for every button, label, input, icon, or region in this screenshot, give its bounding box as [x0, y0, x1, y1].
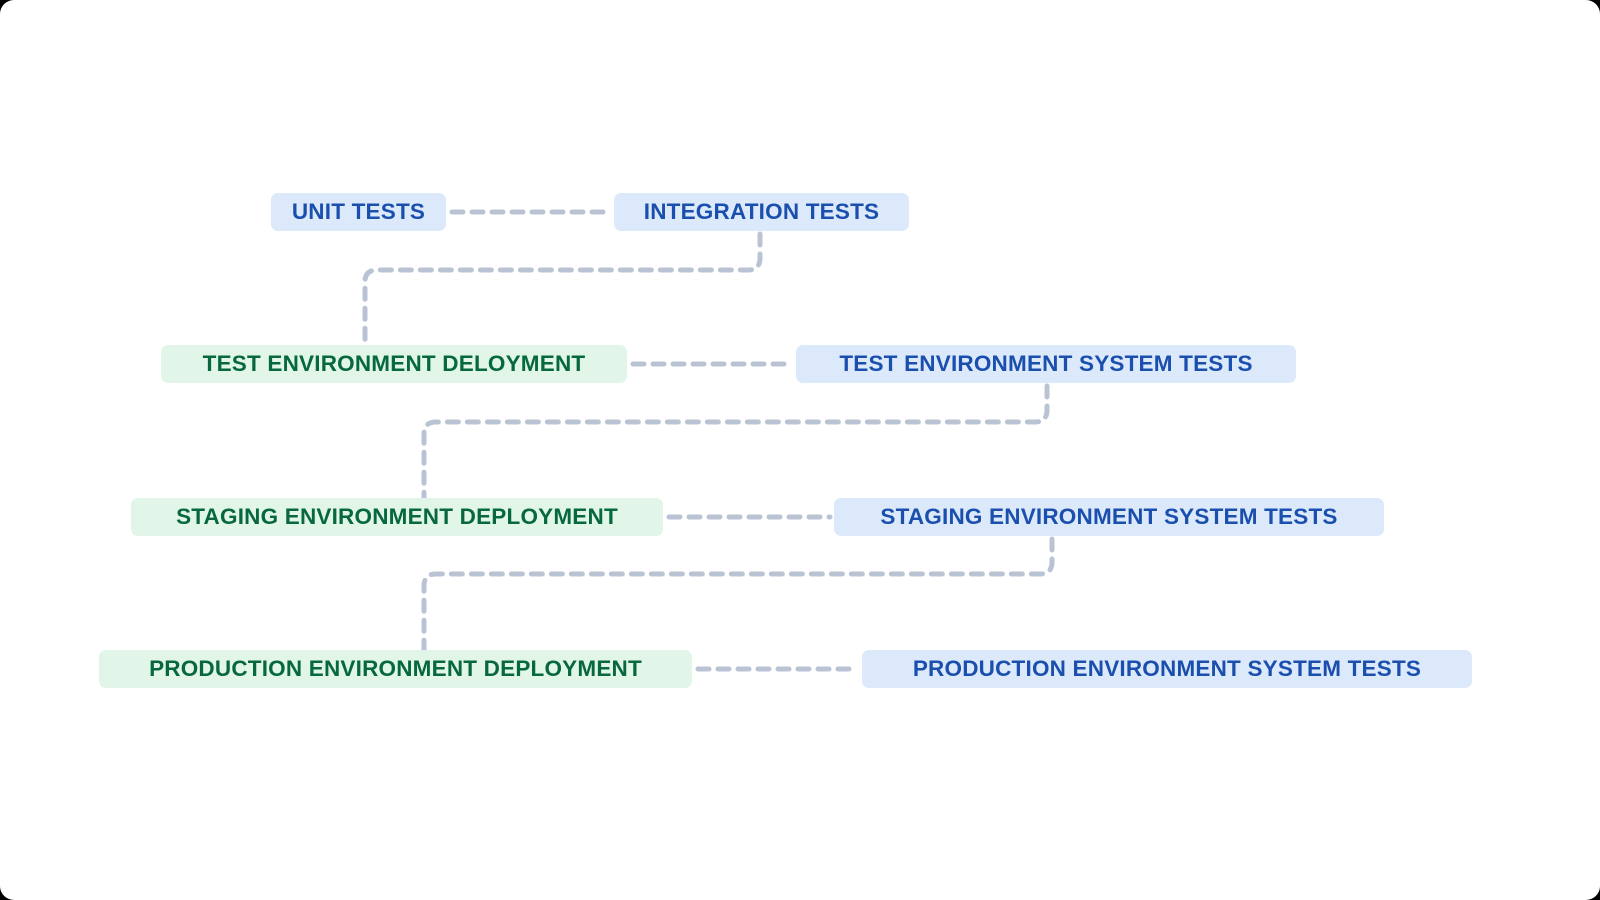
connector-staging-environment-system-tests-to-production-environment-deployment: [424, 539, 1052, 650]
node-production-environment-deployment[interactable]: PRODUCTION ENVIRONMENT DEPLOYMENT: [99, 650, 692, 688]
node-test-environment-system-tests[interactable]: TEST ENVIRONMENT SYSTEM TESTS: [796, 345, 1296, 383]
node-label: INTEGRATION TESTS: [644, 201, 880, 224]
connector-integration-tests-to-test-environment-deloyment: [365, 234, 760, 344]
node-staging-environment-system-tests[interactable]: STAGING ENVIRONMENT SYSTEM TESTS: [834, 498, 1384, 536]
node-staging-environment-deployment[interactable]: STAGING ENVIRONMENT DEPLOYMENT: [131, 498, 663, 536]
node-label: STAGING ENVIRONMENT SYSTEM TESTS: [880, 506, 1337, 529]
node-label: TEST ENVIRONMENT DELOYMENT: [203, 353, 586, 376]
node-label: TEST ENVIRONMENT SYSTEM TESTS: [839, 353, 1252, 376]
node-label: PRODUCTION ENVIRONMENT SYSTEM TESTS: [913, 658, 1421, 681]
node-label: STAGING ENVIRONMENT DEPLOYMENT: [176, 506, 618, 529]
connector-layer: [0, 0, 1600, 900]
node-label: PRODUCTION ENVIRONMENT DEPLOYMENT: [149, 658, 642, 681]
node-test-environment-deloyment[interactable]: TEST ENVIRONMENT DELOYMENT: [161, 345, 627, 383]
diagram-canvas: UNIT TESTSINTEGRATION TESTSTEST ENVIRONM…: [0, 0, 1600, 900]
connector-test-environment-system-tests-to-staging-environment-deployment: [424, 386, 1047, 497]
node-integration-tests[interactable]: INTEGRATION TESTS: [614, 193, 909, 231]
node-label: UNIT TESTS: [292, 201, 425, 224]
node-unit-tests[interactable]: UNIT TESTS: [271, 193, 446, 231]
node-production-environment-system-tests[interactable]: PRODUCTION ENVIRONMENT SYSTEM TESTS: [862, 650, 1472, 688]
